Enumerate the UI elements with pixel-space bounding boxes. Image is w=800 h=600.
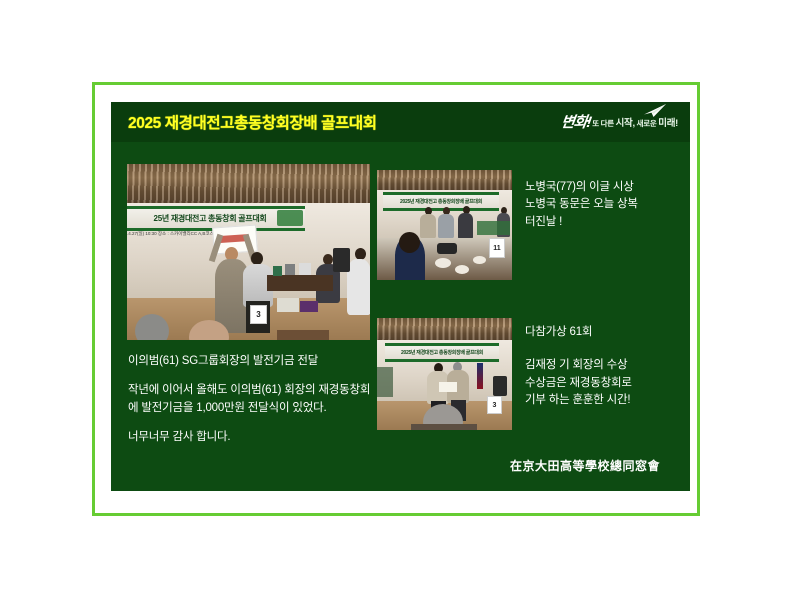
photo3-award-plaque bbox=[439, 382, 457, 392]
photo2-person1-body bbox=[420, 214, 436, 238]
brand-logo: 변화! 또 다른 시작, 새로운 미래! bbox=[561, 115, 682, 130]
photo-main-floor-box1 bbox=[277, 298, 299, 312]
caption-right-top: 노병국(77)의 이글 시상 노병국 동문은 오늘 상복 터진날 ! bbox=[525, 179, 685, 231]
caption-right-bottom-heading: 다참가상 61회 bbox=[525, 324, 690, 341]
photo2-person3-body bbox=[458, 213, 473, 239]
caption-right-top-line2: 노병국 동문은 오늘 상복 bbox=[525, 196, 685, 213]
photo-banquet-room: 2025년 재경대전고 총동창회장배 골프대회 11 bbox=[377, 170, 512, 280]
brand-mark-text: 변화! bbox=[560, 115, 592, 130]
photo2-ceiling bbox=[377, 170, 512, 190]
slide-canvas: 2025 재경대전고총동창회장배 골프대회 변화! 또 다른 시작, 새로운 미… bbox=[0, 0, 800, 600]
photo3-banner-text: 2025년 재경대전고 총동창회장배 골프대회 bbox=[401, 349, 483, 356]
caption-right-top-line3: 터진날 ! bbox=[525, 214, 685, 231]
photo2-banner: 2025년 재경대전고 총동창회장배 골프대회 bbox=[383, 192, 499, 211]
brand-tagline-part1: 또 다른 bbox=[592, 119, 614, 128]
photo3-left-object bbox=[377, 367, 393, 397]
caption-left-line2: 작년에 이어서 올해도 이의범(61) 회장의 재경동창회에 발전기금을 1,0… bbox=[128, 381, 378, 417]
photo-main-box3 bbox=[299, 263, 311, 275]
brand-tagline: 또 다른 시작, 새로운 미래! bbox=[592, 119, 678, 130]
photo2-dish1 bbox=[435, 258, 451, 268]
caption-left-line1: 이의범(61) SG그룹회장의 발전기금 전달 bbox=[128, 352, 378, 370]
photo2-person2-body bbox=[438, 214, 454, 238]
photo-main-foreground-head1 bbox=[135, 314, 169, 340]
photo3-banner: 2025년 재경대전고 총동창회장배 골프대회 bbox=[385, 343, 499, 362]
photo3-speaker bbox=[493, 376, 507, 396]
photo-main-box2 bbox=[285, 264, 295, 275]
photo2-number-card: 11 bbox=[489, 238, 505, 258]
photo-main-number-card: 3 bbox=[250, 305, 267, 324]
photo2-dish3 bbox=[473, 256, 486, 264]
slide-panel: 2025 재경대전고총동창회장배 골프대회 변화! 또 다른 시작, 새로운 미… bbox=[111, 102, 690, 491]
photo-award-ceremony-main: 25년 재경대전고 총동창회 골프대회 2025.4.27(일) 10:30 장… bbox=[127, 164, 370, 340]
caption-right-bottom-line2: 수상금은 재경동창회로 bbox=[525, 375, 690, 392]
photo2-foreground-person-head bbox=[399, 232, 420, 253]
caption-left-line3: 너무너무 감사 합니다. bbox=[128, 428, 378, 446]
photo-ceiling bbox=[127, 164, 370, 203]
caption-left: 이의범(61) SG그룹회장의 발전기금 전달 작년에 이어서 올해도 이의범(… bbox=[128, 352, 378, 447]
photo-main-banner-text: 25년 재경대전고 총동창회 골프대회 bbox=[154, 213, 267, 224]
photo3-foreground-shoulders bbox=[411, 424, 477, 430]
caption-right-bottom-line3: 기부 하는 훈훈한 시간! bbox=[525, 392, 690, 409]
photo3-ceiling bbox=[377, 318, 512, 340]
slide-title-bar: 2025 재경대전고총동창회장배 골프대회 변화! 또 다른 시작, 새로운 미… bbox=[111, 102, 690, 142]
photo2-banner-text: 2025년 재경대전고 총동창회장배 골프대회 bbox=[400, 198, 482, 205]
photo2-dish2 bbox=[455, 265, 469, 274]
brand-tagline-part2: 시작, bbox=[616, 118, 635, 129]
footer-association-name: 在京大田高等學校總同窓會 bbox=[495, 457, 675, 474]
caption-right-top-line1: 노병국(77)의 이글 시상 bbox=[525, 179, 685, 196]
photo-award-handover: 2025년 재경대전고 총동창회장배 골프대회 3 bbox=[377, 318, 512, 430]
photo-main-banner-subtext: 2025.4.27(일) 10:30 장소 : 스카이밸리CC A,B코스 bbox=[127, 231, 214, 237]
paper-plane-icon bbox=[644, 104, 666, 117]
brand-tagline-part3: 새로운 bbox=[637, 119, 657, 128]
brand-tagline-part4: 미래! bbox=[658, 118, 678, 129]
caption-right-bottom-line1: 김재정 기 회장의 수상 bbox=[525, 357, 690, 374]
photo-main-banner-logo bbox=[277, 210, 303, 226]
photo-main-person2-head bbox=[251, 252, 263, 265]
photo-main-floor-box2 bbox=[300, 301, 318, 312]
photo3-flag bbox=[477, 363, 483, 389]
photo3-number-card: 3 bbox=[487, 396, 502, 414]
photo-main-person3-head bbox=[323, 254, 333, 265]
caption-right-bottom: 다참가상 61회 김재정 기 회장의 수상 수상금은 재경동창회로 기부 하는 … bbox=[525, 324, 690, 409]
photo-main-foreground-table bbox=[277, 330, 329, 340]
photo-main-box1 bbox=[273, 266, 282, 276]
photo2-side-table bbox=[477, 221, 510, 235]
photo-main-person4-body bbox=[347, 259, 370, 315]
photo-main-table bbox=[267, 275, 333, 291]
photo-main-speaker bbox=[333, 248, 350, 272]
photo2-grill bbox=[437, 243, 457, 254]
page-title: 2025 재경대전고총동창회장배 골프대회 bbox=[128, 111, 377, 133]
